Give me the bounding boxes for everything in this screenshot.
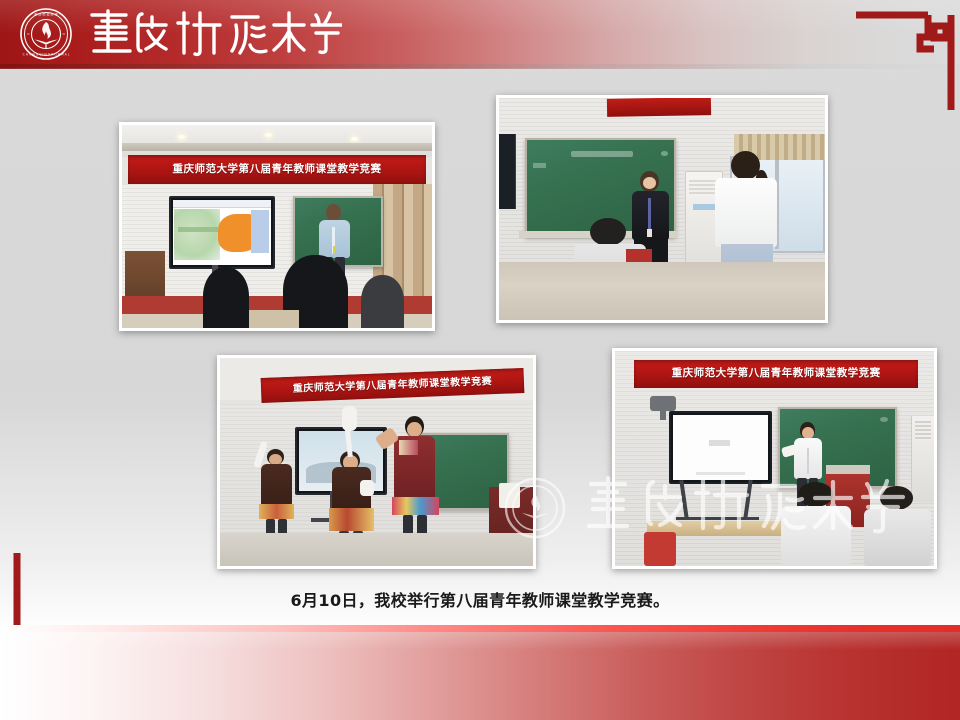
- photo-4-image: 重庆师范大学第八届青年教师课堂教学竞赛: [615, 351, 934, 566]
- photo-3-image: 重庆师范大学第八届青年教师课堂教学竞赛: [220, 358, 533, 566]
- photo-1[interactable]: 重庆师范大学第八届青年教师课堂教学竞赛: [119, 122, 435, 331]
- photo-4[interactable]: 重庆师范大学第八届青年教师课堂教学竞赛: [612, 348, 937, 569]
- slide-caption: 6月10日，我校举行第八届青年教师课堂教学竞赛。: [0, 587, 960, 611]
- footer-band-gloss: [0, 632, 960, 650]
- slide-canvas: 重 庆 师 范 大 学 C H O N G Q I N G N O R M A …: [0, 0, 960, 720]
- photo-1-banner-text: 重庆师范大学第八届青年教师课堂教学竞赛: [128, 155, 426, 183]
- photo-1-image: 重庆师范大学第八届青年教师课堂教学竞赛: [122, 125, 432, 328]
- svg-text:重 庆 师 范 大 学: 重 庆 师 范 大 学: [34, 12, 57, 17]
- photo-4-banner-text: 重庆师范大学第八届青年教师课堂教学竞赛: [634, 360, 918, 387]
- photo-4-student-1: [781, 482, 851, 566]
- photo-2[interactable]: [496, 95, 828, 323]
- photo-4-student-2: [864, 486, 931, 566]
- header-baseline: [0, 64, 960, 69]
- university-logo-icon: 重 庆 师 范 大 学 C H O N G Q I N G N O R M A …: [20, 8, 72, 60]
- footer-band-highlight: [0, 625, 960, 632]
- school-name-wordmark: [82, 5, 342, 63]
- corner-ornament-top-right-icon: [830, 0, 960, 110]
- photo-1-banner: 重庆师范大学第八届青年教师课堂教学竞赛: [128, 155, 426, 183]
- svg-text:C H O N G Q I N G N O R M A L: C H O N G Q I N G N O R M A L: [23, 52, 70, 56]
- photo-2-image: [499, 98, 825, 320]
- photo-3[interactable]: 重庆师范大学第八届青年教师课堂教学竞赛: [217, 355, 536, 569]
- photo-4-banner: 重庆师范大学第八届青年教师课堂教学竞赛: [634, 360, 918, 388]
